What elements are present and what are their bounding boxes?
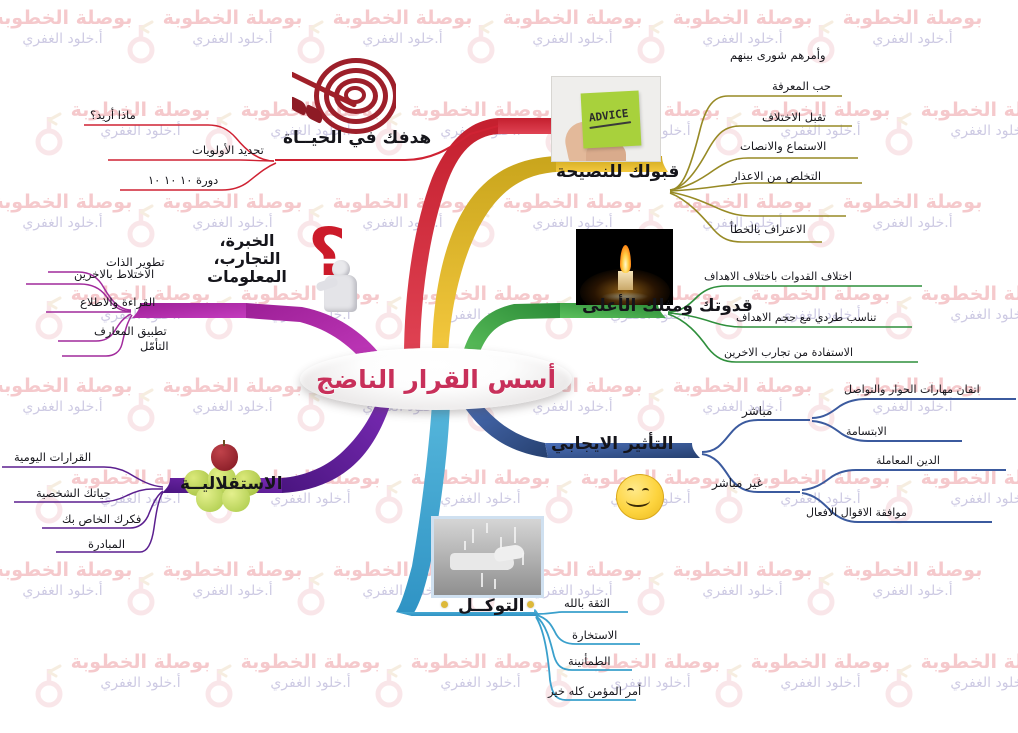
rain-drop-icon (464, 541, 466, 550)
sub-label-influence-direct[interactable]: مباشر (742, 404, 772, 418)
sub-label-independence-1[interactable]: حياتك الشخصية (36, 486, 111, 500)
rain-drop-icon (522, 553, 524, 565)
archery-target-icon (292, 54, 396, 138)
branch-label-influence[interactable]: التأثير الايجابي (551, 434, 673, 454)
trunk-independence (282, 394, 392, 493)
advice-sticky-note-image: ADVICE (551, 76, 661, 162)
rain-drop-icon (481, 573, 483, 587)
branch-label-advice[interactable]: قبولك للنصيحة (556, 162, 679, 182)
sub-label-rolemodel-1[interactable]: تناسب طردي مع حجم الاهداف (736, 311, 876, 324)
bullet-dot-left (441, 601, 448, 608)
sub-label-trust-2[interactable]: الطمأنينة (568, 654, 611, 668)
sub-label-goal-2[interactable]: دورة ١٠ ١٠ ١٠ (148, 173, 218, 187)
sub-label-influence-indirect-1[interactable]: موافقة الاقوال الافعال (806, 506, 907, 519)
sub-label-rolemodel-0[interactable]: اختلاف القدوات باختلاف الاهداف (704, 270, 852, 283)
sub-label-experience-1[interactable]: الاختلاط بالاخرين (74, 267, 154, 281)
sub-label-trust-1[interactable]: الاستخارة (572, 628, 617, 642)
sub-label-goal-1[interactable]: تحديد الأولويات (192, 143, 264, 157)
sub-label-trust-3[interactable]: أمر المؤمن كله خير (548, 684, 641, 698)
branch-label-experience[interactable]: الخبرة، التجارب، المعلومات (206, 232, 288, 286)
hand-catching-rain-image (431, 516, 544, 598)
sub-label-experience-2[interactable]: القراءة والاطلاع (80, 295, 155, 309)
sub-label-independence-3[interactable]: المبادرة (88, 537, 125, 551)
sub-label-influence-direct-1[interactable]: الابتسامة (846, 425, 887, 438)
sub-label-advice-3[interactable]: الاستماع والانصات (740, 139, 826, 153)
rain-drop-icon (494, 579, 496, 589)
branch-label-rolemodel[interactable]: قدوتك ومثلك الأعلى (582, 296, 753, 316)
sub-label-experience-3[interactable]: تطبيق المعارف (94, 324, 167, 338)
branch-label-goal[interactable]: هدفك في الحيــاة (283, 128, 431, 148)
sub-label-influence-direct-0[interactable]: اتقان مهارات الحوار والتواصل (844, 383, 980, 396)
sub-label-experience-4[interactable]: التأمّل (140, 339, 169, 353)
candle-image (576, 229, 673, 305)
sub-label-rolemodel-2[interactable]: الاستفادة من تجارب الاخرين (724, 346, 853, 359)
sub-label-goal-0[interactable]: ماذا أريد؟ (90, 108, 136, 122)
branch-label-trust[interactable]: التوكــل (458, 596, 525, 616)
rain-drop-icon (500, 537, 502, 549)
question-mark-thinker-icon: ؟ (288, 222, 374, 318)
sub-label-advice-0[interactable]: وأمرهم شورى بينهم (730, 48, 826, 62)
center-node[interactable]: أسس القرار الناضج (300, 348, 572, 410)
sub-label-trust-0[interactable]: الثقة بالله (564, 596, 610, 610)
sub-label-advice-2[interactable]: تقبل الاختلاف (762, 110, 826, 124)
sub-label-influence-indirect-0[interactable]: الدين المعاملة (876, 454, 940, 467)
smiling-sun-icon (600, 461, 676, 533)
sub-label-advice-4[interactable]: التخلص من الاعذار (732, 169, 821, 183)
center-node-label: أسس القرار الناضج (316, 365, 556, 394)
sub-label-advice-5[interactable]: الاعتراف بالخطأ (730, 222, 806, 236)
sub-label-influence-indirect[interactable]: غير مباشر (712, 476, 763, 490)
branch-label-independence[interactable]: الاستقلاليــة (180, 474, 283, 494)
sub-links-independence (2, 467, 163, 552)
sub-label-independence-2[interactable]: فكرك الخاص بك (62, 512, 141, 526)
sub-label-advice-1[interactable]: حب المعرفة (772, 79, 831, 93)
bullet-dot-right (527, 601, 534, 608)
sub-links-experience (26, 272, 132, 356)
rain-drop-icon (472, 529, 474, 543)
sub-label-independence-0[interactable]: القرارات اليومية (14, 450, 91, 464)
rain-drop-icon (486, 523, 488, 533)
branch-label-experience-text: الخبرة، التجارب، المعلومات (207, 231, 287, 286)
mindmap-canvas: بوصلة الخطوبةأ.خلود الغفريبوصلة الخطوبةأ… (0, 0, 1018, 733)
rain-drop-icon (514, 527, 516, 543)
